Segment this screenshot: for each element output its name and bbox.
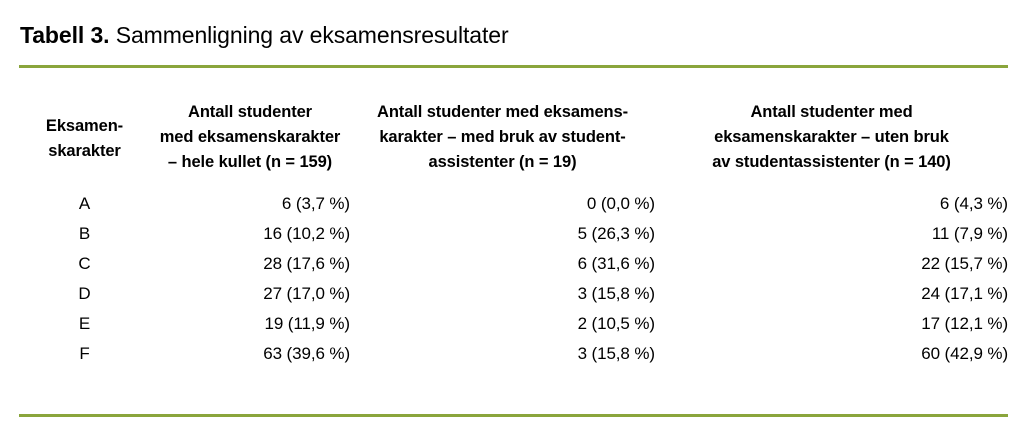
cell-with-assistants: 6 (31,6 %) xyxy=(350,249,655,279)
cell-all-students: 27 (17,0 %) xyxy=(150,279,350,309)
cell-with-assistants: 3 (15,8 %) xyxy=(350,339,655,369)
cell-without-assistants: 6 (4,3 %) xyxy=(655,189,1008,219)
cell-with-assistants: 5 (26,3 %) xyxy=(350,219,655,249)
cell-without-assistants: 24 (17,1 %) xyxy=(655,279,1008,309)
table-row: E19 (11,9 %)2 (10,5 %)17 (12,1 %) xyxy=(19,309,1008,339)
table-row: A6 (3,7 %)0 (0,0 %)6 (4,3 %) xyxy=(19,189,1008,219)
table-top-rule xyxy=(19,65,1008,68)
table-row: B16 (10,2 %)5 (26,3 %)11 (7,9 %) xyxy=(19,219,1008,249)
column-header-grade: Eksamen- skarakter xyxy=(19,100,150,189)
column-header-without-assistants-line-2: eksamenskarakter – uten bruk xyxy=(655,125,1008,150)
cell-grade: B xyxy=(19,219,150,249)
cell-without-assistants: 22 (15,7 %) xyxy=(655,249,1008,279)
column-header-without-assistants: Antall studenter med eksamenskarakter – … xyxy=(655,100,1008,189)
cell-with-assistants: 3 (15,8 %) xyxy=(350,279,655,309)
cell-without-assistants: 60 (42,9 %) xyxy=(655,339,1008,369)
cell-all-students: 16 (10,2 %) xyxy=(150,219,350,249)
column-header-all-students-line-2: med eksamenskarakter xyxy=(150,125,350,150)
column-header-grade-line-2: skarakter xyxy=(19,139,150,164)
cell-grade: A xyxy=(19,189,150,219)
table-bottom-rule xyxy=(19,414,1008,417)
cell-with-assistants: 2 (10,5 %) xyxy=(350,309,655,339)
cell-all-students: 28 (17,6 %) xyxy=(150,249,350,279)
column-header-all-students-line-3: – hele kullet (n = 159) xyxy=(150,150,350,175)
cell-with-assistants: 0 (0,0 %) xyxy=(350,189,655,219)
column-header-without-assistants-line-3: av studentassistenter (n = 140) xyxy=(655,150,1008,175)
cell-grade: C xyxy=(19,249,150,279)
column-header-with-assistants: Antall studenter med eksamens- karakter … xyxy=(350,100,655,189)
table-header: Eksamen- skarakter Antall studenter med … xyxy=(19,100,1008,189)
column-header-all-students: Antall studenter med eksamenskarakter – … xyxy=(150,100,350,189)
cell-grade: D xyxy=(19,279,150,309)
cell-all-students: 6 (3,7 %) xyxy=(150,189,350,219)
cell-without-assistants: 11 (7,9 %) xyxy=(655,219,1008,249)
table-caption-label: Tabell 3. xyxy=(20,22,109,48)
cell-grade: E xyxy=(19,309,150,339)
column-header-with-assistants-line-2: karakter – med bruk av student- xyxy=(350,125,655,150)
column-header-with-assistants-line-3: assistenter (n = 19) xyxy=(350,150,655,175)
cell-all-students: 63 (39,6 %) xyxy=(150,339,350,369)
cell-without-assistants: 17 (12,1 %) xyxy=(655,309,1008,339)
table-row: C28 (17,6 %)6 (31,6 %)22 (15,7 %) xyxy=(19,249,1008,279)
table-caption: Tabell 3. Sammenligning av eksamensresul… xyxy=(20,20,1004,50)
exam-results-table: Eksamen- skarakter Antall studenter med … xyxy=(19,100,1008,369)
table-row: D27 (17,0 %)3 (15,8 %)24 (17,1 %) xyxy=(19,279,1008,309)
cell-grade: F xyxy=(19,339,150,369)
column-header-grade-line-1: Eksamen- xyxy=(19,114,150,139)
table-body: A6 (3,7 %)0 (0,0 %)6 (4,3 %)B16 (10,2 %)… xyxy=(19,189,1008,369)
column-header-all-students-line-1: Antall studenter xyxy=(150,100,350,125)
table-caption-text: Sammenligning av eksamensresultater xyxy=(109,22,508,48)
cell-all-students: 19 (11,9 %) xyxy=(150,309,350,339)
column-header-with-assistants-line-1: Antall studenter med eksamens- xyxy=(350,100,655,125)
table-header-row: Eksamen- skarakter Antall studenter med … xyxy=(19,100,1008,189)
column-header-without-assistants-line-1: Antall studenter med xyxy=(655,100,1008,125)
table-figure: Tabell 3. Sammenligning av eksamensresul… xyxy=(0,0,1024,443)
table-row: F63 (39,6 %)3 (15,8 %)60 (42,9 %) xyxy=(19,339,1008,369)
